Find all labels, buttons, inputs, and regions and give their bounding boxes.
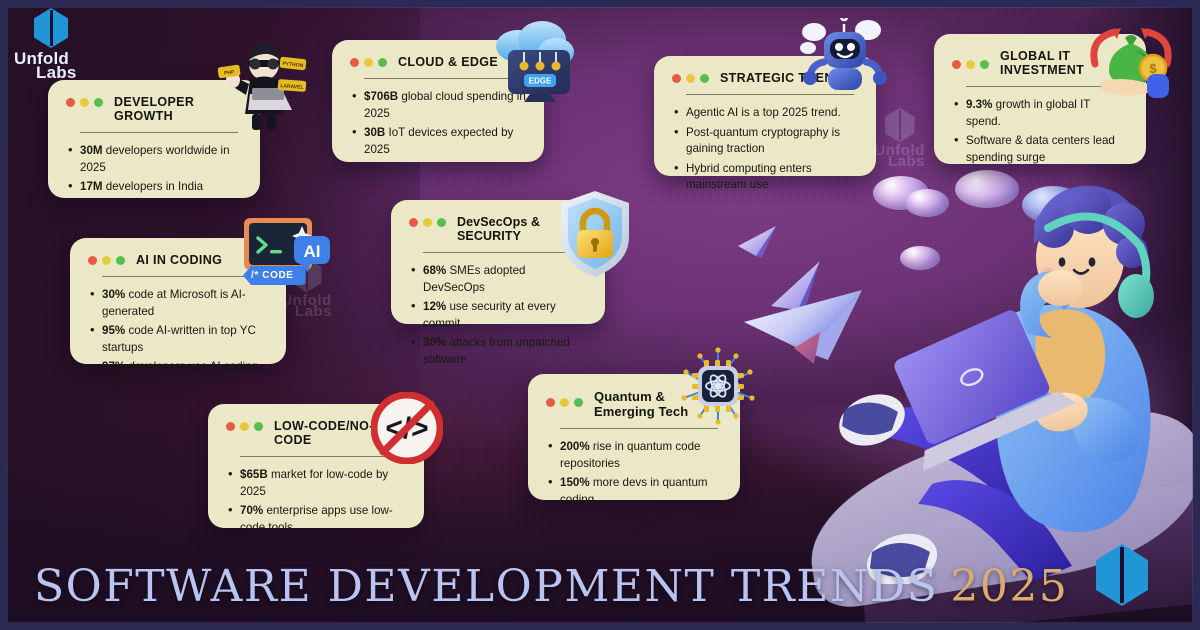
bullet-item: 95% code AI-written in top YC startups <box>88 323 268 356</box>
window-dots <box>350 54 387 67</box>
bullet-highlight: 97% <box>102 360 125 373</box>
svg-text:EDGE: EDGE <box>529 77 552 86</box>
page-title-year: 2025 <box>950 561 1068 612</box>
bullet-item: Agentic AI is a top 2025 trend. <box>672 105 858 122</box>
bullet-item: 97% developers use AI coding tools <box>88 359 268 392</box>
logo-line2: Labs <box>36 65 114 80</box>
dot-green-icon <box>378 58 387 67</box>
bullet-item: $65B market for low-code by 2025 <box>226 467 406 500</box>
dot-green-icon <box>254 422 263 431</box>
bullet-highlight: 30B <box>364 126 385 139</box>
divider <box>80 132 238 133</box>
window-dots <box>672 70 709 83</box>
bullet-list: 30% code at Microsoft is AI-generated95%… <box>88 287 268 392</box>
robot-3d-icon <box>790 18 894 100</box>
bullet-highlight: 95% <box>102 324 125 337</box>
bullet-highlight: 200% <box>560 440 590 453</box>
shield-lock-3d-icon <box>556 188 634 280</box>
bullet-highlight: $65B <box>240 468 268 481</box>
person-with-laptop-illustration <box>836 184 1196 584</box>
window-dots <box>409 214 446 227</box>
code-badge-label: /* CODE <box>251 270 294 281</box>
dot-yellow-icon <box>423 218 432 227</box>
bullet-item: 150% more devs in quantum coding <box>546 475 722 508</box>
code-badge: /* CODE <box>243 266 306 285</box>
window-dots <box>226 418 263 431</box>
hexagon-split-icon <box>34 8 68 48</box>
bullet-highlight: 150% <box>560 476 590 489</box>
dot-red-icon <box>672 74 681 83</box>
page-title-main: SOFTWARE DEVELOPMENT TRENDS <box>34 561 938 612</box>
cloud-edge-server-3d-icon: EDGE <box>484 16 580 112</box>
bullet-item: 30% attacks from unpatched software <box>409 335 587 368</box>
dot-yellow-icon <box>686 74 695 83</box>
bullet-highlight: 9.3% <box>966 98 992 111</box>
bullet-highlight: 30% <box>423 336 446 349</box>
card-title: Quantum &Emerging Tech <box>594 388 688 419</box>
dot-red-icon <box>66 98 75 107</box>
card-title: GLOBAL IT INVESTMENT <box>1000 48 1092 77</box>
bullet-item: Post-quantum cryptography is gaining tra… <box>672 125 858 158</box>
card-title-line: Quantum & <box>594 389 688 404</box>
bullet-list: 30M developers worldwide in 202517M deve… <box>66 143 242 196</box>
dot-red-icon <box>350 58 359 67</box>
svg-text:$: $ <box>1149 61 1157 76</box>
card-title: AI IN CODING <box>136 252 222 267</box>
bullet-list: Agentic AI is a top 2025 trend.Post-quan… <box>672 105 858 194</box>
dot-yellow-icon <box>966 60 975 69</box>
window-dots <box>546 388 583 407</box>
bullet-highlight: 17M <box>80 180 103 193</box>
dot-red-icon <box>409 218 418 227</box>
window-dots <box>88 252 125 265</box>
dot-green-icon <box>94 98 103 107</box>
dot-green-icon <box>116 256 125 265</box>
dot-green-icon <box>574 398 583 407</box>
dot-yellow-icon <box>80 98 89 107</box>
dot-yellow-icon <box>364 58 373 67</box>
svg-text:AI: AI <box>304 242 321 261</box>
card-title-line: Emerging Tech <box>594 404 688 419</box>
page-title: SOFTWARE DEVELOPMENT TRENDS2025 <box>34 561 1068 612</box>
bullet-item: 12% use security at every commit <box>409 299 587 332</box>
dot-green-icon <box>437 218 446 227</box>
window-dots <box>66 94 103 107</box>
dot-yellow-icon <box>102 256 111 265</box>
dot-yellow-icon <box>240 422 249 431</box>
bullet-item: 17M developers in India <box>66 179 242 196</box>
logo-unfoldlabs-top-left[interactable]: Unfold Labs <box>14 8 114 80</box>
no-code-prohibited-3d-icon: </> <box>371 392 443 464</box>
infographic-canvas: Unfold Labs Unfold Labs <box>0 0 1200 630</box>
dot-yellow-icon <box>560 398 569 407</box>
quantum-chip-3d-icon <box>678 346 758 426</box>
developer-character-3d-icon: PHP PYTHON LARAVEL <box>216 36 312 132</box>
bullet-item: 200% rise in quantum code repositories <box>546 439 722 472</box>
dot-green-icon <box>700 74 709 83</box>
divider <box>560 428 718 429</box>
hexagon-split-icon <box>1096 544 1148 606</box>
bullet-highlight: 30% <box>102 288 125 301</box>
dot-red-icon <box>88 256 97 265</box>
bullet-item: 70% enterprise apps use low-code tools <box>226 503 406 536</box>
money-bag-hand-3d-icon: $ <box>1085 24 1177 104</box>
bullet-item: 30M developers worldwide in 2025 <box>66 143 242 176</box>
bullet-item: 30B IoT devices expected by 2025 <box>350 125 526 158</box>
bullet-highlight: 70% <box>240 504 263 517</box>
bullet-list: 9.3% growth in global IT spend.Software … <box>952 97 1128 166</box>
bullet-list: $65B market for low-code by 202570% ente… <box>226 467 406 536</box>
bullet-list: 200% rise in quantum code repositories15… <box>546 439 722 508</box>
dot-red-icon <box>546 398 555 407</box>
window-dots <box>952 48 989 69</box>
bullet-highlight: 12% <box>423 300 446 313</box>
bullet-item: Software & data centers lead spending su… <box>952 133 1128 166</box>
bullet-highlight: 30M <box>80 144 103 157</box>
bullet-highlight: 68% <box>423 264 446 277</box>
dot-green-icon <box>980 60 989 69</box>
bullet-item: Hybrid computing enters mainstream use <box>672 161 858 194</box>
dot-red-icon <box>226 422 235 431</box>
logo-unfoldlabs-bottom-right[interactable] <box>1096 544 1148 606</box>
dot-red-icon <box>952 60 961 69</box>
bullet-highlight: $706B <box>364 90 398 103</box>
